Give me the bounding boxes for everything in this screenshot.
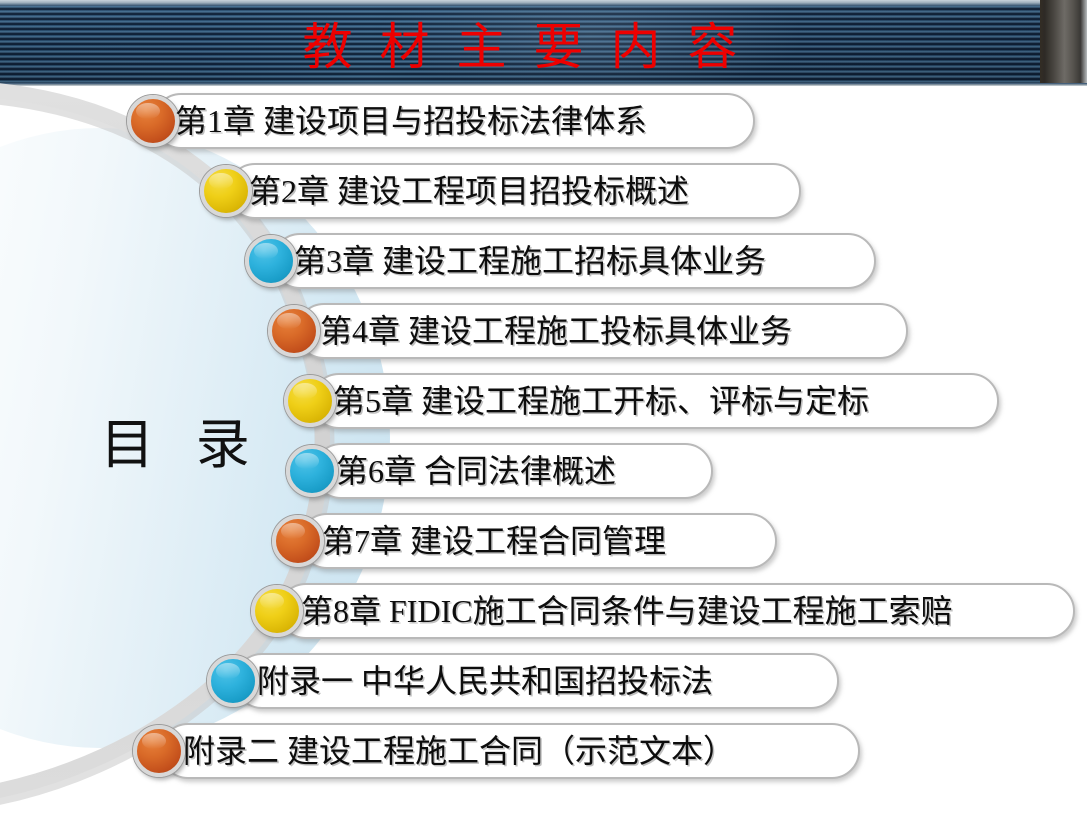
bullet-circle-icon	[268, 305, 320, 357]
table-of-contents-row[interactable]: 第4章 建设工程施工投标具体业务	[0, 303, 1087, 359]
bullet-circle-icon	[286, 445, 338, 497]
toc-item-label: 第1章 建设项目与招投标法律体系	[175, 93, 647, 149]
table-of-contents-row[interactable]: 第2章 建设工程项目招投标概述	[0, 163, 1087, 219]
banner-right-metal-band	[1040, 0, 1087, 86]
toc-item-label: 第4章 建设工程施工投标具体业务	[320, 303, 792, 359]
banner-haze-overlay	[380, 0, 800, 86]
bullet-circle-icon	[207, 655, 259, 707]
toc-item-label: 附录一 中华人民共和国招投标法	[257, 653, 713, 709]
bullet-circle-icon	[127, 95, 179, 147]
banner-bottom-edge	[0, 83, 1087, 86]
toc-item-label: 第7章 建设工程合同管理	[322, 513, 666, 569]
page-title: 教材主要内容	[0, 0, 1040, 86]
toc-item-label: 附录二 建设工程施工合同（示范文本）	[183, 723, 735, 779]
toc-item-label: 第5章 建设工程施工开标、评标与定标	[333, 373, 869, 429]
table-of-contents-row[interactable]: 附录一 中华人民共和国招投标法	[0, 653, 1087, 709]
table-of-contents-row[interactable]: 第8章 FIDIC施工合同条件与建设工程施工索赔	[0, 583, 1087, 639]
table-of-contents-row[interactable]: 第6章 合同法律概述	[0, 443, 1087, 499]
toc-item-label: 第6章 合同法律概述	[336, 443, 616, 499]
banner-top-edge	[0, 0, 1087, 6]
bullet-circle-icon	[251, 585, 303, 637]
table-of-contents-row[interactable]: 第5章 建设工程施工开标、评标与定标	[0, 373, 1087, 429]
title-banner: 教材主要内容	[0, 0, 1087, 86]
table-of-contents-row[interactable]: 第1章 建设项目与招投标法律体系	[0, 93, 1087, 149]
slide-canvas: 教材主要内容 目 录 第1章 建设项目与招投标法律体系第2章 建设工程项目招投标…	[0, 0, 1087, 821]
table-of-contents-row[interactable]: 附录二 建设工程施工合同（示范文本）	[0, 723, 1087, 779]
bullet-circle-icon	[200, 165, 252, 217]
toc-item-label: 第3章 建设工程施工招标具体业务	[294, 233, 766, 289]
banner-stripe-texture	[0, 0, 1087, 86]
bullet-circle-icon	[245, 235, 297, 287]
bullet-circle-icon	[272, 515, 324, 567]
table-of-contents-row[interactable]: 第3章 建设工程施工招标具体业务	[0, 233, 1087, 289]
bullet-circle-icon	[133, 725, 185, 777]
bullet-circle-icon	[284, 375, 336, 427]
table-of-contents-row[interactable]: 第7章 建设工程合同管理	[0, 513, 1087, 569]
toc-item-label: 第8章 FIDIC施工合同条件与建设工程施工索赔	[301, 583, 953, 639]
toc-item-label: 第2章 建设工程项目招投标概述	[249, 163, 689, 219]
